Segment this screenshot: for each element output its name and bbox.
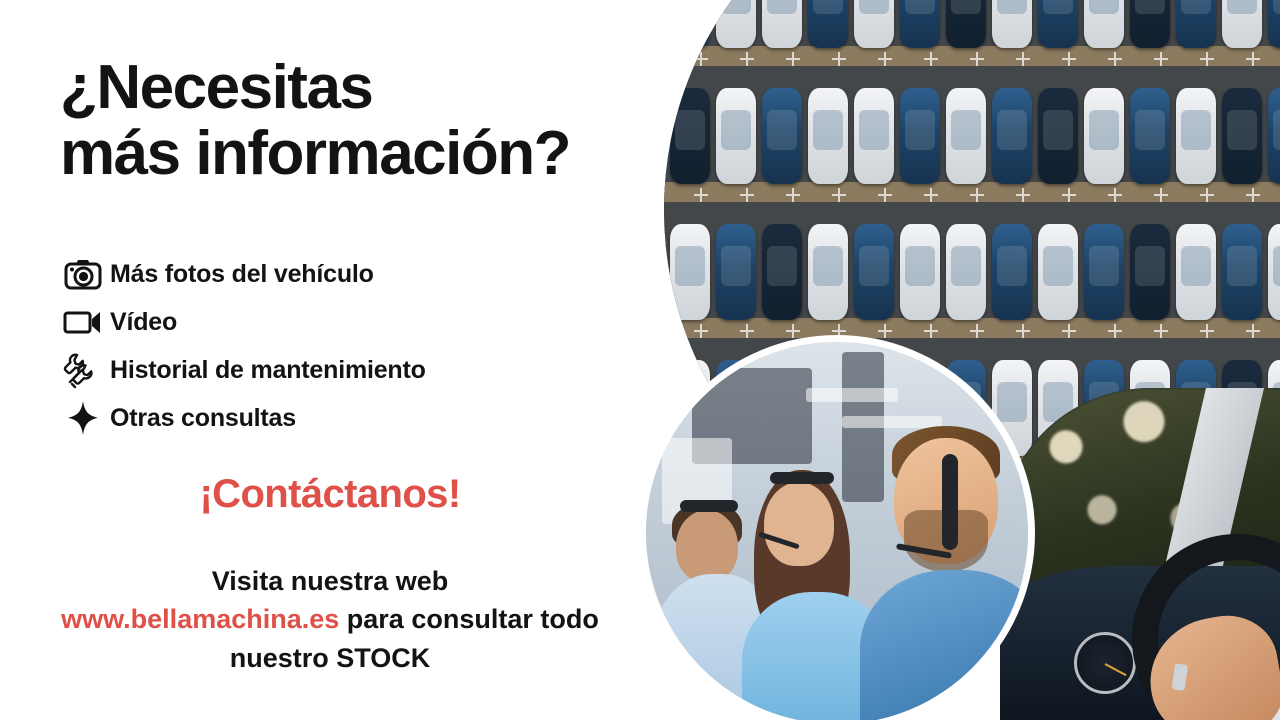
list-item-label: Más fotos del vehículo	[110, 260, 374, 289]
call-centre-agents-photo	[646, 342, 1028, 720]
website-url[interactable]: www.bellamachina.es	[61, 604, 339, 634]
list-item-label: Vídeo	[110, 308, 177, 337]
list-item-label: Historial de mantenimiento	[110, 356, 426, 385]
list-item-label: Otras consultas	[110, 404, 296, 433]
page-title: ¿Necesitas más información?	[60, 55, 570, 188]
sparkle-icon	[56, 400, 110, 436]
ceiling-light	[842, 416, 942, 428]
headset-icon	[942, 454, 958, 550]
headset-icon	[680, 500, 738, 512]
list-item: Vídeo	[56, 298, 616, 346]
footer-line-2: www.bellamachina.es para consultar todo	[0, 600, 660, 638]
speedometer	[1074, 632, 1136, 694]
cta-contact-text: ¡Contáctanos!	[0, 472, 660, 517]
wrench-tools-icon	[56, 351, 110, 389]
footer-line-3: nuestro STOCK	[0, 639, 660, 677]
footer-block: Visita nuestra web www.bellamachina.es p…	[0, 562, 660, 677]
ceiling-light	[806, 388, 898, 402]
feature-list: Más fotos del vehículo Vídeo	[56, 250, 616, 442]
agent-man-torso	[860, 570, 1028, 720]
list-item: Más fotos del vehículo	[56, 250, 616, 298]
promo-banner: ¿Necesitas más información? Más fotos de…	[0, 0, 1280, 720]
list-item: Otras consultas	[56, 394, 616, 442]
gauge-needle	[1105, 663, 1127, 676]
video-camera-icon	[56, 308, 110, 336]
footer-line-2-rest: para consultar todo	[339, 604, 599, 634]
cta-label: ¡Contáctanos!	[199, 472, 460, 516]
list-item: Historial de mantenimiento	[56, 346, 616, 394]
camera-icon	[56, 258, 110, 290]
footer-line-1: Visita nuestra web	[0, 562, 660, 600]
headset-icon	[770, 472, 834, 484]
wedding-ring	[1172, 663, 1188, 691]
agent-back-head	[676, 510, 738, 582]
agent-woman-head	[764, 482, 834, 566]
driver-steering-wheel-photo	[1000, 388, 1280, 720]
